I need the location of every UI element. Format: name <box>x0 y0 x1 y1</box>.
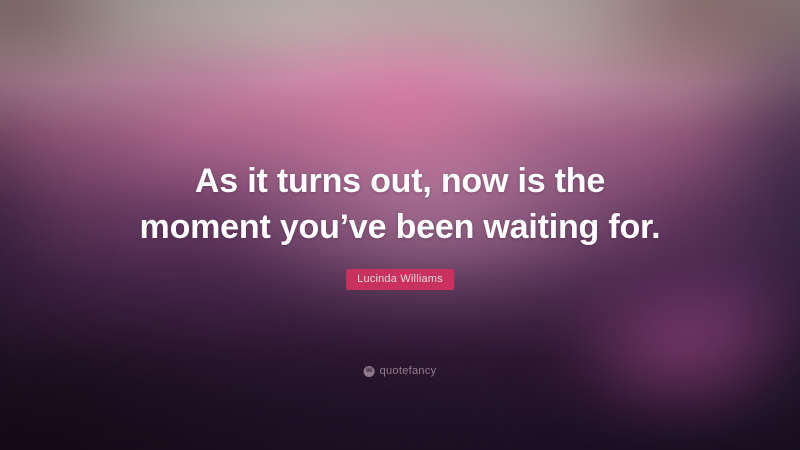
quotefancy-logo-icon: 66 <box>364 366 375 377</box>
quote-line-1: As it turns out, now is the <box>60 158 740 204</box>
quote-line-2: moment you’ve been waiting for. <box>60 204 740 250</box>
quotefancy-logo-mark: 66 <box>366 368 372 374</box>
quote-text: As it turns out, now is the moment you’v… <box>0 158 800 250</box>
content-overlay: As it turns out, now is the moment you’v… <box>0 0 800 450</box>
author-badge: Lucinda Williams <box>346 269 454 290</box>
watermark: 66 quotefancy <box>364 365 437 377</box>
quote-wallpaper: As it turns out, now is the moment you’v… <box>0 0 800 450</box>
watermark-label: quotefancy <box>380 365 437 377</box>
